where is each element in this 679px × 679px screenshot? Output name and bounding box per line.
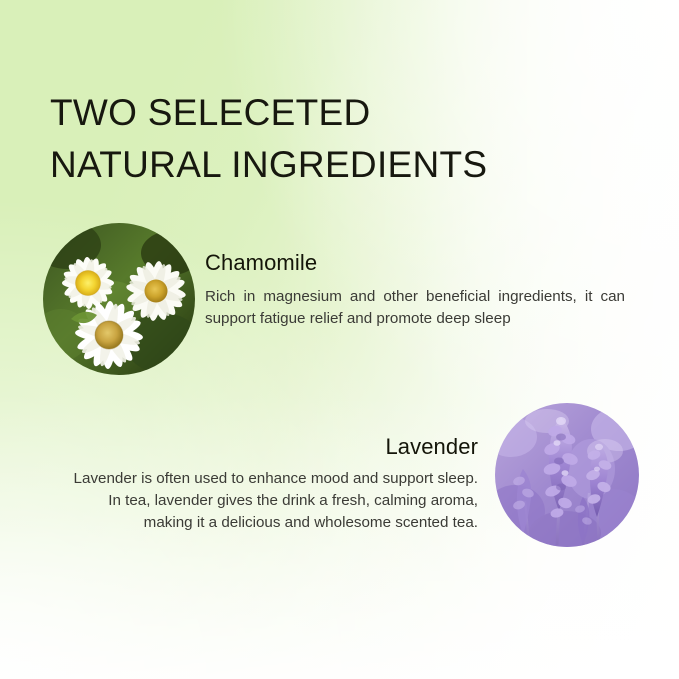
lavender-title: Lavender xyxy=(58,434,478,460)
chamomile-description: Rich in magnesium and other beneficial i… xyxy=(205,286,625,329)
page-title-line-2: NATURAL INGREDIENTS xyxy=(50,139,650,192)
page-title-line-1: TWO SELECETED xyxy=(50,87,650,140)
chamomile-flowers-photo xyxy=(43,223,195,375)
chamomile-text-block: Chamomile Rich in magnesium and other be… xyxy=(205,250,625,330)
lavender-text-block: Lavender Lavender is often used to enhan… xyxy=(58,434,478,533)
infographic-content: TWO SELECETED NATURAL INGREDIENTS xyxy=(0,0,679,679)
ingredients-infographic: TWO SELECETED NATURAL INGREDIENTS xyxy=(0,0,679,679)
lavender-description: Lavender is often used to enhance mood a… xyxy=(58,468,478,533)
lavender-flowers-photo xyxy=(495,403,639,547)
chamomile-title: Chamomile xyxy=(205,250,625,276)
page-title: TWO SELECETED NATURAL INGREDIENTS xyxy=(50,87,650,192)
